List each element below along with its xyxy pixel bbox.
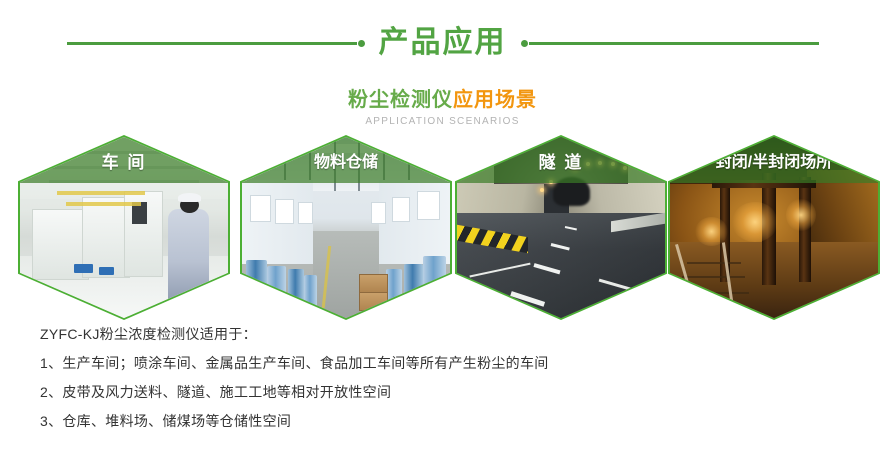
description-item: 3、仓库、堆料场、储煤场等仓储性空间	[40, 407, 840, 436]
scenario-card-label: 物料仓储	[314, 148, 378, 172]
page-title: 产品应用	[379, 28, 507, 58]
hex-inner: 隧 道	[457, 137, 665, 318]
subtitle: 粉尘检测仪应用场景	[0, 88, 885, 112]
title-dot-right-icon	[521, 40, 528, 47]
hex-inner: 封闭/半封闭场所	[670, 137, 878, 318]
scenario-card-storage[interactable]: 物料仓储	[240, 135, 452, 320]
card-label-band: 车 间	[20, 137, 228, 183]
scenario-card-label: 隧 道	[539, 148, 584, 173]
scenario-card-enclosed[interactable]: 封闭/半封闭场所	[668, 135, 880, 320]
subtitle-english: APPLICATION SCENARIOS	[0, 116, 885, 128]
description-item: 1、生产车间；喷涂车间、金属品生产车间、食品加工车间等所有产生粉尘的车间	[40, 349, 840, 378]
subtitle-product: 粉尘检测仪	[348, 89, 453, 111]
scenario-card-workshop[interactable]: 车 间	[18, 135, 230, 320]
scenario-card-tunnel[interactable]: 隧 道	[455, 135, 667, 320]
subtitle-scenario: 应用场景	[453, 89, 537, 111]
hex-inner: 物料仓储	[242, 137, 450, 318]
title-rule-left	[67, 42, 357, 45]
hex-inner: 车 间	[20, 137, 228, 318]
card-label-band: 封闭/半封闭场所	[670, 137, 878, 183]
title-rule-right	[529, 42, 819, 45]
card-label-band: 隧 道	[457, 137, 665, 183]
subtitle-block: 粉尘检测仪应用场景 APPLICATION SCENARIOS	[0, 88, 885, 128]
card-label-band: 物料仓储	[242, 137, 450, 183]
description-block: ZYFC-KJ粉尘浓度检测仪适用于： 1、生产车间；喷涂车间、金属品生产车间、食…	[40, 320, 840, 436]
title-dot-left-icon	[358, 40, 365, 47]
scenario-card-label: 封闭/半封闭场所	[716, 148, 832, 172]
scenario-cards: 车 间	[0, 135, 885, 320]
scenario-card-label: 车 间	[102, 148, 147, 173]
description-item: 2、皮带及风力送料、隧道、施工工地等相对开放性空间	[40, 378, 840, 407]
page-title-row: 产品应用	[0, 20, 885, 66]
description-intro: ZYFC-KJ粉尘浓度检测仪适用于：	[40, 320, 840, 349]
